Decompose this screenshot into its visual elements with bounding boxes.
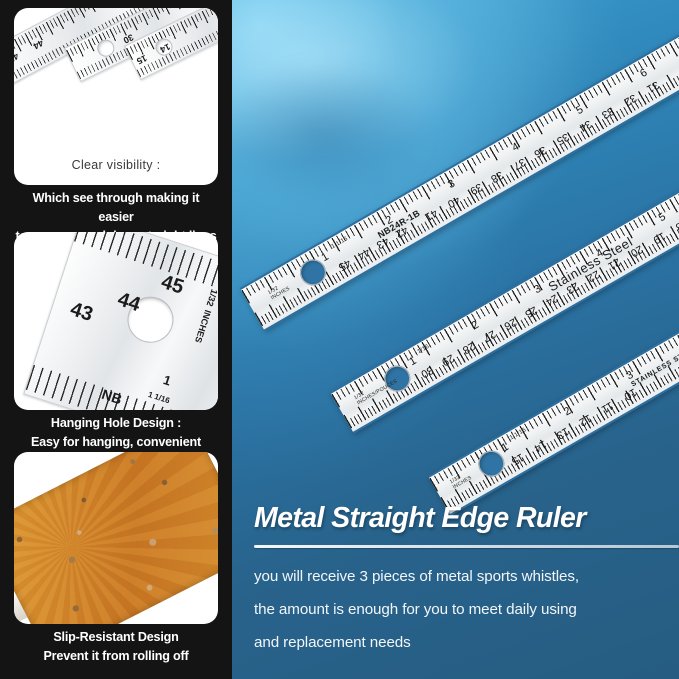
feature-image-slip-resistant	[14, 452, 218, 624]
clear-visibility-inline-label: Clear visibility :	[14, 158, 218, 172]
hero-description: you will receive 3 pieces of metal sport…	[254, 560, 669, 659]
product-infographic: 45 44 2 30 1	[0, 0, 679, 679]
shadow-reflection	[232, 60, 432, 210]
slip-resistant-caption: Slip-Resistant Design Prevent it from ro…	[14, 624, 218, 666]
caption-line-1: Which see through making it easier	[14, 189, 218, 227]
caption-line-1: Slip-Resistant Design	[14, 628, 218, 647]
hero-title: Metal Straight Edge Ruler	[254, 502, 674, 535]
feature-card-hanging-hole: 43 44 45 1/32 INCHES 1 1 1/16 NB Hanging…	[14, 232, 218, 471]
caption-line-1: Hanging Hole Design :	[14, 414, 218, 433]
feature-image-clear-visibility: 45 44 2 30 1	[14, 8, 218, 185]
feature-sidebar: 45 44 2 30 1	[0, 0, 232, 679]
hanging-hole-photo: 43 44 45 1/32 INCHES 1 1 1/16 NB	[14, 232, 218, 410]
hero-panel: 1/32INCHES NB24R-1B 45 44 43 42 41 40 39…	[232, 0, 679, 679]
description-line-1: you will receive 3 pieces of metal sport…	[254, 560, 669, 593]
feature-card-clear-visibility: 45 44 2 30 1	[14, 8, 218, 246]
feature-image-hanging-hole: 43 44 45 1/32 INCHES 1 1 1/16 NB	[14, 232, 218, 410]
description-line-2: the amount is enough for you to meet dai…	[254, 593, 669, 626]
cork-texture	[14, 452, 218, 624]
title-divider	[254, 545, 679, 548]
description-line-3: and replacement needs	[254, 626, 669, 659]
macro-ruler: 43 44 45 1/32 INCHES 1 1 1/16 NB	[23, 232, 218, 410]
caption-line-2: Prevent it from rolling off	[14, 647, 218, 666]
rulers-overlap-photo: 45 44 2 30 1	[14, 8, 218, 158]
feature-card-slip-resistant: Slip-Resistant Design Prevent it from ro…	[14, 452, 218, 666]
